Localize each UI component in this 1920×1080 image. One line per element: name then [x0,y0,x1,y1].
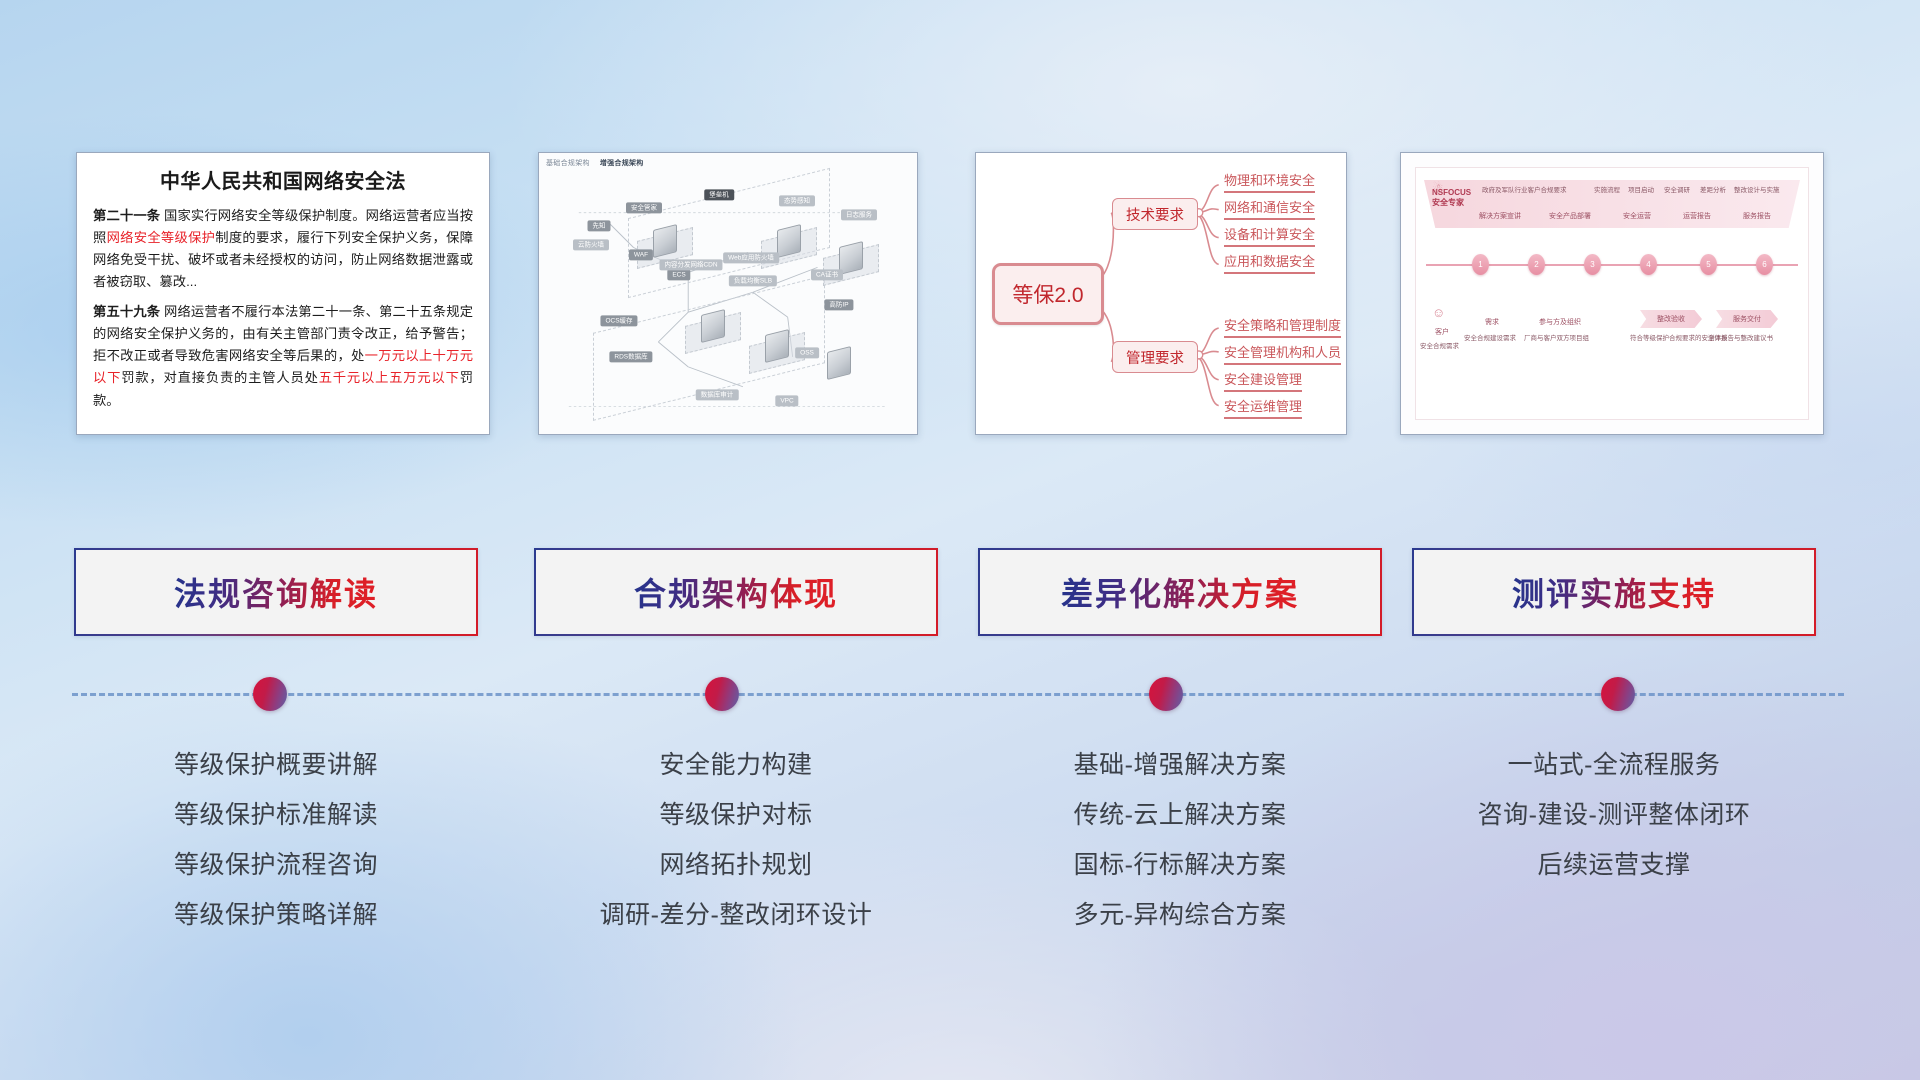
roadmap-bottom-tag-0: 需求 [1472,318,1512,327]
roadmap-phase-tag-1: 安全产品部署 [1544,212,1596,221]
mindmap-leaf-app-data: 应用和数据安全 [1224,254,1315,274]
architecture-node-ca-cert: CA证书 [811,269,843,280]
roadmap-chip-4: 差距分析 [1700,184,1726,194]
roadmap-chip-1: 实施流程 [1594,184,1620,194]
mindmap-leaf-ops-mgmt: 安全运维管理 [1224,399,1302,419]
list-item: 调研-差分-整改闭环设计 [534,890,938,940]
roadmap-left-tag-0: 客户 [1422,328,1462,337]
list-item: 网络拓扑规划 [534,840,938,890]
mindmap-leaf-policy-system: 安全策略和管理制度 [1224,318,1341,338]
architecture-node-bastion: 堡垒机 [704,189,734,200]
list-item: 等级保护策略详解 [74,890,478,940]
architecture-node-ecs: ECS [667,269,690,280]
roadmap-brand-sub: 安全专家 [1432,198,1464,207]
law-article-21: 第二十一条 国家实行网络安全等级保护制度。网络运营者应当按照网络安全等级保护制度… [93,205,473,293]
list-item: 安全能力构建 [534,740,938,790]
architecture-node-security-steward: 安全管家 [626,202,662,213]
headline-box-differentiated-solution[interactable]: 差异化解决方案 [978,548,1382,636]
headline-label-2: 合规架构体现 [634,569,838,615]
architecture-node-oss: OSS [795,347,819,358]
architecture-node-slb: 负载均衡SLB [729,275,777,286]
architecture-node-vpc: VPC [775,395,798,406]
headline-box-assessment-support[interactable]: 测评实施支持 [1412,548,1816,636]
architecture-server-6 [827,346,851,380]
roadmap-step-5: 5 [1700,254,1717,275]
architecture-node-cdn: 内容分发网络CDN [659,259,722,270]
mindmap-root: 等保2.0 [992,263,1104,325]
roadmap-left-tag-1: 安全合规需求 [1420,340,1459,350]
roadmap-chip-3: 安全调研 [1664,184,1690,194]
mindmap-branch-technical: 技术要求 [1112,198,1198,230]
list-item: 等级保护流程咨询 [74,840,478,890]
roadmap-bottom-tag-3: 服务交付 [1716,310,1778,328]
architecture-node-rds: RDS数据库 [609,351,652,362]
thumbnail-cybersecurity-law[interactable]: 中华人民共和国网络安全法 第二十一条 国家实行网络安全等级保护制度。网络运营者应… [76,152,490,435]
roadmap-phase-tag-2: 安全运营 [1614,212,1660,221]
list-item: 多元-异构综合方案 [978,890,1382,940]
roadmap-phase-tag-0: 解决方案宣讲 [1474,212,1526,221]
article-59-number: 第五十九条 [93,304,160,319]
headline-label-3: 差异化解决方案 [1061,569,1299,615]
headline-box-compliance-architecture[interactable]: 合规架构体现 [534,548,938,636]
mindmap-leaf-physical-env: 物理和环境安全 [1224,173,1315,193]
architecture-server-4 [701,309,725,343]
article-59-highlight-2: 五千元以上五万元以下 [319,370,460,385]
law-document-title: 中华人民共和国网络安全法 [93,165,473,194]
law-article-59: 第五十九条 网络运营者不履行本法第二十一条、第二十五条规定的网络安全保护义务的，… [93,301,473,411]
timeline-dashed-line [72,693,1844,696]
timeline [0,655,1920,735]
article-59-mid: 罚款，对直接负责的主管人员处 [121,370,318,385]
timeline-dot-4[interactable] [1601,677,1635,711]
thumbnail-nsfocus-roadmap[interactable]: ☃ NSFOCUS 安全专家 政府及军队行业客户合规要求 实施流程 项目启动 安… [1400,152,1824,435]
list-item: 咨询-建设-测评整体闭环 [1412,790,1816,840]
list-item: 基础-增强解决方案 [978,740,1382,790]
roadmap-brand: NSFOCUS 安全专家 [1432,188,1471,208]
list-item: 一站式-全流程服务 [1412,740,1816,790]
thumbnail-dengbao-mindmap[interactable]: 等保2.0 技术要求 管理要求 物理和环境安全 网络和通信安全 设备和计算安全 … [975,152,1347,435]
roadmap-step-6: 6 [1756,254,1773,275]
roadmap-chip-5: 整改设计与实施 [1734,184,1780,194]
architecture-node-waf: WAF [629,249,653,260]
roadmap-phase-tag-3: 运营报告 [1674,212,1720,221]
architecture-node-db-audit: 数据库审计 [696,389,739,400]
service-column-differentiated-solution: 基础-增强解决方案 传统-云上解决方案 国标-行标解决方案 多元-异构综合方案 [978,740,1382,940]
customer-avatar-icon: ☺ [1432,306,1445,319]
mindmap-branch-management: 管理要求 [1112,341,1198,373]
service-columns: 等级保护概要讲解 等级保护标准解读 等级保护流程咨询 等级保护策略详解 安全能力… [0,740,1920,970]
nsfocus-roadmap: ☃ NSFOCUS 安全专家 政府及军队行业客户合规要求 实施流程 项目启动 安… [1401,153,1823,434]
architecture-node-cloud-firewall: 云防火墙 [573,239,609,250]
list-item: 后续运营支撑 [1412,840,1816,890]
architecture-server-3 [653,224,677,258]
thumbnail-row: 中华人民共和国网络安全法 第二十一条 国家实行网络安全等级保护制度。网络运营者应… [0,152,1920,442]
service-column-compliance-architecture: 安全能力构建 等级保护对标 网络拓扑规划 调研-差分-整改闭环设计 [534,740,938,940]
roadmap-chip-0: 政府及军队行业客户合规要求 [1482,184,1567,194]
roadmap-chip-2: 项目启动 [1628,184,1654,194]
mindmap-leaf-construction-mgmt: 安全建设管理 [1224,372,1302,392]
roadmap-phase-tag-4: 服务报告 [1734,212,1780,221]
cloud-architecture-diagram: 基础合规架构增强合规架构 [539,153,917,434]
roadmap-bottom-sub-3: 测评报告与整改建议书 [1708,332,1773,342]
mindmap-leaf-device-compute: 设备和计算安全 [1224,227,1315,247]
roadmap-step-4: 4 [1640,254,1657,275]
article-21-highlight: 网络安全等级保护 [107,230,216,245]
timeline-dot-1[interactable] [253,677,287,711]
roadmap-step-1: 1 [1472,254,1489,275]
dengbao-mindmap: 等保2.0 技术要求 管理要求 物理和环境安全 网络和通信安全 设备和计算安全 … [976,153,1346,434]
architecture-server-1 [777,224,801,258]
article-21-number: 第二十一条 [93,208,160,223]
headline-row: 法规咨询解读 合规架构体现 差异化解决方案 测评实施支持 [0,548,1920,638]
mindmap-leaf-network-comm: 网络和通信安全 [1224,200,1315,220]
architecture-node-xianzhi: 先知 [588,220,611,231]
headline-label-1: 法规咨询解读 [174,569,378,615]
architecture-node-log-service: 日志服务 [841,209,877,220]
architecture-node-web-firewall: Web应用防火墙 [723,252,779,263]
timeline-dot-2[interactable] [705,677,739,711]
list-item: 等级保护对标 [534,790,938,840]
headline-label-4: 测评实施支持 [1512,569,1716,615]
service-column-regulation-consulting: 等级保护概要讲解 等级保护标准解读 等级保护流程咨询 等级保护策略详解 [74,740,478,940]
list-item: 传统-云上解决方案 [978,790,1382,840]
thumbnail-cloud-architecture[interactable]: 基础合规架构增强合规架构 [538,152,918,435]
roadmap-bottom-sub-1: 厂商与客户双方项目组 [1524,332,1589,342]
architecture-node-ocs: OCS缓存 [600,315,637,326]
headline-box-regulation-consulting[interactable]: 法规咨询解读 [74,548,478,636]
law-document: 中华人民共和国网络安全法 第二十一条 国家实行网络安全等级保护制度。网络运营者应… [77,153,489,434]
roadmap-bottom-sub-0: 安全合规建设需求 [1464,332,1516,342]
roadmap-bottom-tag-2: 整改验收 [1640,310,1702,328]
list-item: 国标-行标解决方案 [978,840,1382,890]
mindmap-leaf-org-personnel: 安全管理机构和人员 [1224,345,1341,365]
roadmap-inner-frame: ☃ NSFOCUS 安全专家 政府及军队行业客户合规要求 实施流程 项目启动 安… [1415,167,1809,420]
roadmap-step-2: 2 [1528,254,1545,275]
roadmap-bottom-tag-1: 参与方及组织 [1530,318,1590,327]
architecture-server-5 [765,329,789,363]
list-item: 等级保护概要讲解 [74,740,478,790]
roadmap-step-3: 3 [1584,254,1601,275]
architecture-node-anti-ddos: 高防IP [824,299,853,310]
timeline-dot-3[interactable] [1149,677,1183,711]
list-item: 等级保护标准解读 [74,790,478,840]
service-column-assessment-support: 一站式-全流程服务 咨询-建设-测评整体闭环 后续运营支撑 [1412,740,1816,890]
roadmap-brand-name: NSFOCUS [1432,188,1471,197]
architecture-node-situational-awareness: 态势感知 [779,195,815,206]
